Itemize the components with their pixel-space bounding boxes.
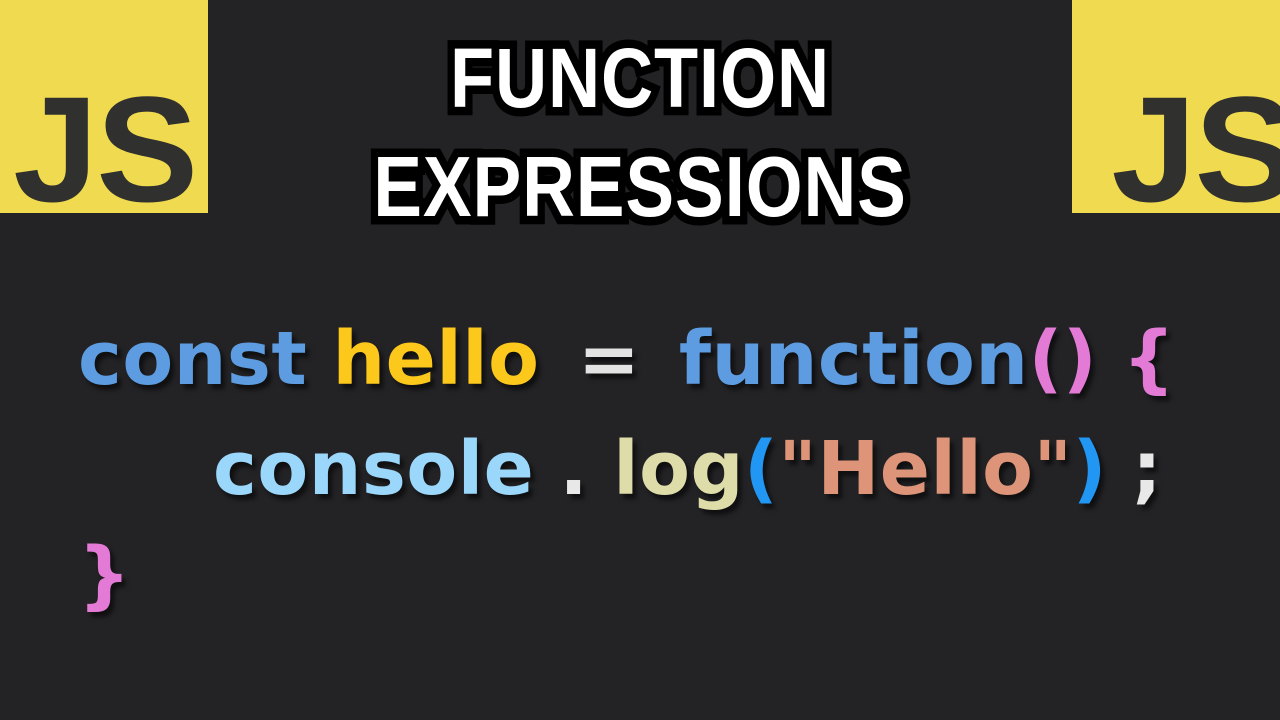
- js-logo-right-label: JS: [1111, 89, 1280, 213]
- js-logo-right: JS: [1072, 0, 1280, 213]
- code-line-2: console.log("Hello");: [0, 432, 1280, 506]
- code-line-3: }: [0, 538, 1280, 612]
- token-paren-open: (: [744, 432, 778, 506]
- token-variable-hello: hello: [332, 322, 539, 396]
- token-dot: .: [559, 432, 588, 506]
- token-string-hello: "Hello": [778, 432, 1072, 506]
- js-logo-left-label: JS: [13, 89, 208, 213]
- token-object-console: console: [213, 432, 534, 506]
- token-keyword-const: const: [78, 322, 307, 396]
- title-line-2: Expressions: [90, 112, 1191, 236]
- code-snippet: consthello=function(){ console.log("Hell…: [0, 322, 1280, 612]
- token-paren-close: ): [1073, 432, 1107, 506]
- token-parens-empty: (): [1029, 322, 1098, 396]
- token-semicolon: ;: [1132, 432, 1162, 506]
- token-operator-assign: =: [578, 322, 641, 396]
- slide-canvas: JS JS Function Expressions consthello=fu…: [0, 0, 1280, 720]
- token-keyword-function: function: [679, 322, 1029, 396]
- token-method-log: log: [613, 432, 744, 506]
- token-brace-open: {: [1122, 322, 1175, 396]
- title-line-1: Function: [90, 8, 1191, 126]
- code-line-1: consthello=function(){: [0, 322, 1280, 396]
- js-logo-left: JS: [0, 0, 208, 213]
- token-brace-close: }: [78, 538, 131, 612]
